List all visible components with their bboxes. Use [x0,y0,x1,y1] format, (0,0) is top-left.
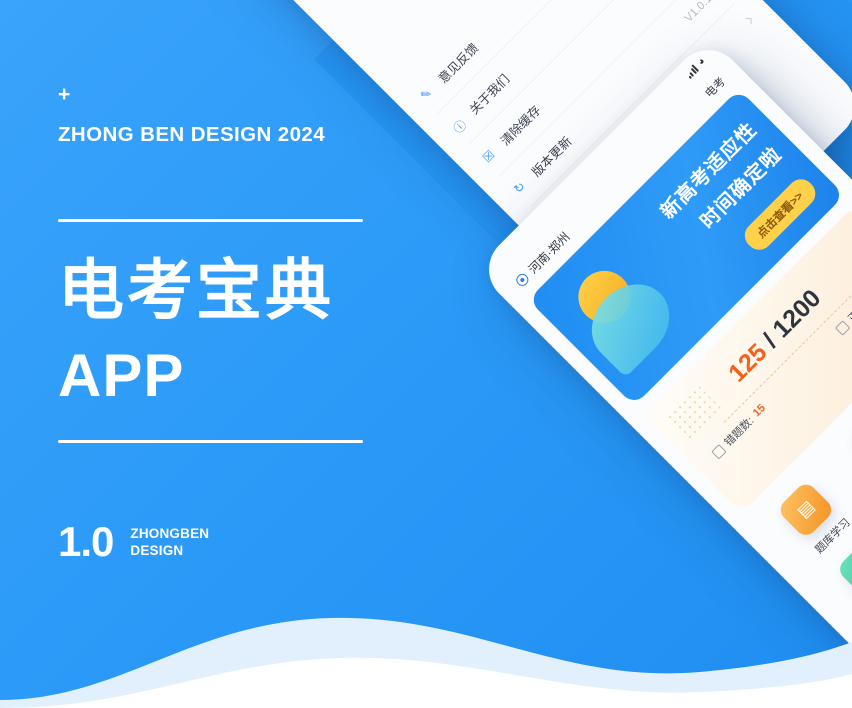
studio-line-2: DESIGN [130,542,209,559]
page-title-cn: 电考宝典 [58,256,420,325]
brand-subtitle: ZHONG BEN DESIGN 2024 [58,123,420,147]
chevron-right-icon [746,18,752,24]
version-number: 1.0 [58,521,113,563]
page-title-en: APP [58,341,420,410]
studio-credit: ZHONGBEN DESIGN [130,525,209,560]
plus-mark-icon: + [58,84,420,105]
about-icon: ⓘ [448,113,469,134]
wrong-count-value: 15 [751,402,768,419]
location-pin-icon [514,271,531,288]
studio-line-1: ZHONGBEN [130,525,209,542]
divider-bottom [58,440,363,443]
feedback-icon: ✎ [417,82,438,103]
signal-icon [684,64,699,79]
accuracy-icon [834,320,850,336]
app-name-label: 电考 [701,73,729,101]
version-row: 1.0 ZHONGBEN DESIGN [58,521,420,563]
exam-icon: A [848,409,852,468]
wifi-icon: ◕ [695,55,707,67]
settings-row-value: V1.0.1 [682,0,714,24]
update-icon: ↻ [510,175,531,196]
left-content-panel: + ZHONG BEN DESIGN 2024 电考宝典 APP 1.0 ZHO… [0,0,420,708]
trash-icon: ☒ [479,144,500,165]
wrong-count-icon [711,444,727,460]
title-block: 电考宝典 APP [58,222,420,440]
